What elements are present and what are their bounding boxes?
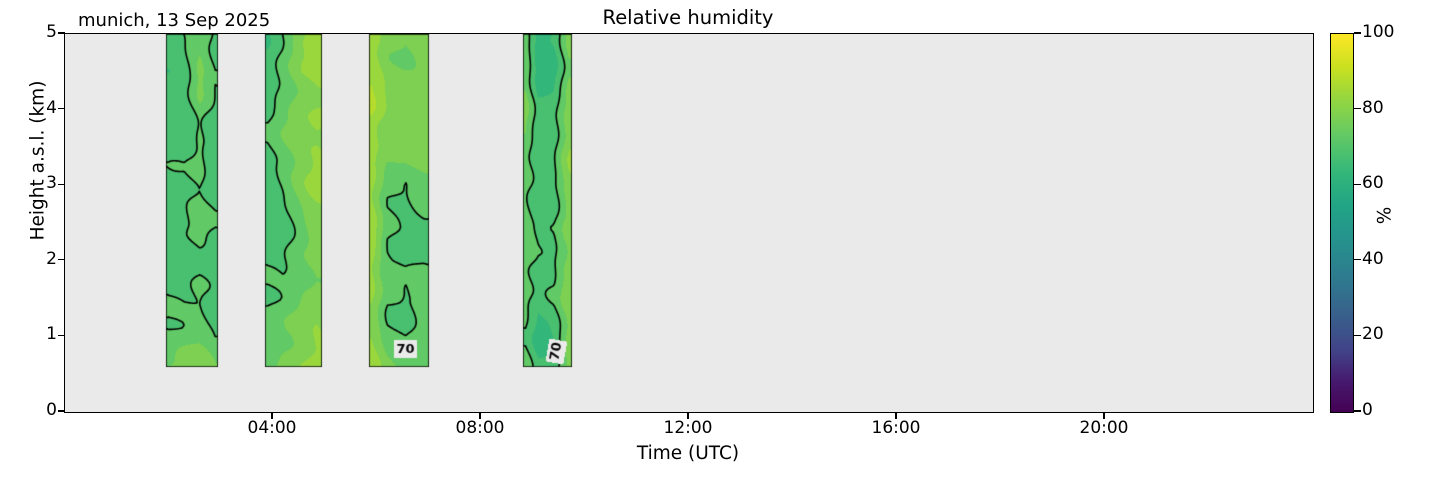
colorbar-tick-label: 100 [1362,24,1394,41]
x-axis-label: Time (UTC) [64,443,1312,464]
colorbar [1330,33,1354,413]
colorbar-tick-mark [1354,259,1361,260]
plot-area [64,33,1314,413]
y-tick-mark [58,184,65,185]
colorbar-tick-mark [1354,184,1361,185]
colorbar-tick-label: 0 [1362,402,1373,419]
x-tick-label: 16:00 [836,419,956,437]
y-tick-mark [58,410,65,411]
y-tick-mark [58,108,65,109]
y-tick-mark [58,259,65,260]
colorbar-tick-mark [1354,335,1361,336]
colorbar-tick-mark [1354,32,1361,33]
colorbar-label: % [1375,161,1396,271]
colorbar-tick-label: 20 [1362,326,1384,343]
y-tick-mark [58,335,65,336]
x-tick-label: 04:00 [212,419,332,437]
colorbar-tick-mark [1354,108,1361,109]
y-axis-label: Height a.s.l. (km) [28,0,49,351]
colorbar-tick-label: 80 [1362,100,1384,117]
x-tick-label: 12:00 [628,419,748,437]
colorbar-tick-mark [1354,410,1361,411]
x-tick-label: 08:00 [420,419,540,437]
station-date-annotation: munich, 13 Sep 2025 [78,10,270,32]
relative-humidity-figure: Relative humidity munich, 13 Sep 2025 01… [0,0,1429,478]
y-tick-label: 0 [46,402,57,419]
x-tick-label: 20:00 [1044,419,1164,437]
humidity-contour-canvas [65,34,1313,412]
y-tick-mark [58,32,65,33]
